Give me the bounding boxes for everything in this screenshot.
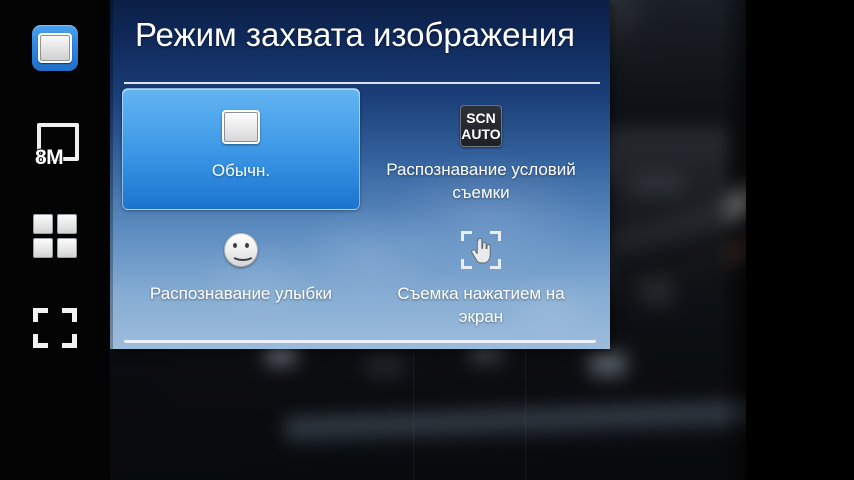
scn-auto-icon-bottom: AUTO: [461, 126, 500, 142]
tile-normal-icon-wrap: [222, 105, 260, 149]
hand-cursor-icon: [471, 238, 491, 264]
scn-auto-icon-top: SCN: [466, 110, 496, 126]
resolution-icon: 8M: [33, 123, 77, 165]
bracket-bottom-right: [62, 334, 77, 348]
tile-touch-label: Съемка нажатием на экран: [374, 282, 589, 328]
tile-scene-label: Распознавание условий съемки: [374, 158, 589, 204]
resolution-value: 8M: [35, 147, 63, 168]
tile-normal-mode[interactable]: Обычн.: [122, 88, 360, 210]
camera-screen: 8M Режим захвата изображения: [0, 0, 854, 480]
tile-touch-icon-wrap: [461, 228, 501, 272]
bracket-top-right: [62, 308, 77, 322]
tile-scene-icon-wrap: SCN AUTO: [460, 104, 502, 148]
scn-auto-icon: SCN AUTO: [460, 105, 502, 147]
panel-bottom-highlight: [124, 340, 596, 343]
bracket-bottom-left: [33, 334, 48, 348]
rail-item-resolution[interactable]: 8M: [0, 108, 110, 180]
touch-bracket-top-right: [490, 231, 501, 241]
capture-mode-panel: Режим захвата изображения Обычн. SCN AUT…: [110, 0, 610, 349]
rail-item-framing[interactable]: [0, 292, 110, 364]
control-rail: 8M: [0, 0, 110, 480]
viewfinder-right-vignette: [720, 0, 746, 480]
screen-icon: [32, 25, 78, 71]
capture-mode-grid: Обычн. SCN AUTO Распознавание условий съ…: [122, 88, 600, 332]
tile-smile-detection[interactable]: Распознавание улыбки: [122, 212, 360, 332]
tile-scene-recognition[interactable]: SCN AUTO Распознавание условий съемки: [362, 88, 600, 210]
touch-bracket-bottom-right: [490, 259, 501, 269]
grid-squares-icon: [33, 214, 77, 258]
grid-square-3: [33, 238, 53, 258]
viewfinder-bar-strip: [285, 402, 746, 445]
framing-brackets-icon: [33, 308, 77, 348]
screen-icon: [222, 110, 260, 144]
touch-shot-icon: [461, 231, 501, 269]
panel-left-edge: [110, 0, 113, 349]
tile-touch-shot[interactable]: Съемка нажатием на экран: [362, 212, 600, 332]
bracket-top-left: [33, 308, 48, 322]
tile-normal-label: Обычн.: [134, 159, 349, 182]
rail-item-settings-grid[interactable]: [0, 200, 110, 272]
grid-square-2: [57, 214, 77, 234]
screen-icon-inner: [38, 33, 72, 63]
page-title: Режим захвата изображения: [135, 16, 575, 54]
grid-square-4: [57, 238, 77, 258]
smiley-mouth: [231, 248, 255, 261]
rail-item-capture-mode[interactable]: [0, 12, 110, 84]
tile-smile-icon-wrap: [224, 228, 258, 272]
smiley-face-icon: [224, 233, 258, 267]
grid-square-1: [33, 214, 53, 234]
title-divider: [124, 82, 600, 84]
tile-smile-label: Распознавание улыбки: [134, 282, 349, 305]
